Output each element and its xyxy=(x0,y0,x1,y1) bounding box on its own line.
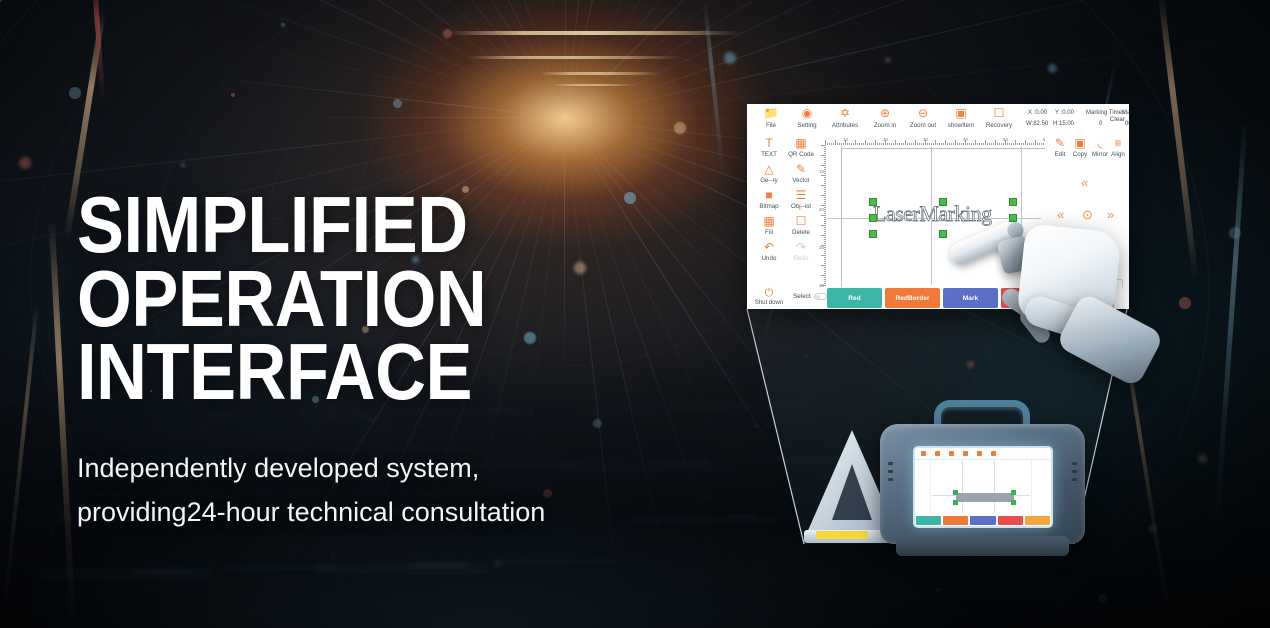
selection-handle[interactable] xyxy=(869,230,877,238)
ruler-tick xyxy=(824,257,827,258)
selection-handle[interactable] xyxy=(869,198,877,206)
shutdown-label: Shut down xyxy=(753,300,785,306)
ruler-tick xyxy=(1023,143,1024,146)
tool-button-copy[interactable]: ▣ Copy xyxy=(1069,137,1091,158)
bokeh-dot xyxy=(724,52,736,64)
machine-screen-ui xyxy=(915,448,1051,526)
ruler-tick xyxy=(927,143,928,146)
ruler-tick xyxy=(824,277,827,278)
ruler-tick xyxy=(959,143,960,146)
mini-handle xyxy=(1011,490,1016,495)
ruler-tick xyxy=(931,143,932,146)
ruler-tick xyxy=(899,143,900,146)
ruler-tick xyxy=(824,149,827,150)
mini-right-panel xyxy=(1031,460,1051,514)
ruler-tick xyxy=(821,145,826,146)
ruler-tick xyxy=(821,205,826,206)
ruler-tick xyxy=(935,140,936,145)
ruler-tick xyxy=(824,263,827,264)
ruler-label: 20 xyxy=(883,137,888,142)
tool-button-delete[interactable]: ☐ Delete xyxy=(783,215,819,236)
bokeh-dot xyxy=(19,157,31,169)
mini-handle xyxy=(953,490,958,495)
ruler-tick xyxy=(1035,140,1036,145)
bokeh-dot xyxy=(0,0,2,2)
mini-btn-continuemark xyxy=(998,516,1023,525)
nav-up-button[interactable]: « xyxy=(1081,175,1088,190)
ruler-tick xyxy=(824,161,827,162)
ruler-tick xyxy=(824,191,827,192)
tool-label: Bitmap xyxy=(751,203,787,210)
mini-handle xyxy=(1011,500,1016,505)
ruler-tick xyxy=(824,279,827,280)
ruler-tick xyxy=(824,219,827,220)
ruler-label: 50 xyxy=(1003,137,1008,142)
ruler-tick xyxy=(1009,143,1010,146)
ruler-tick xyxy=(824,221,827,222)
redo-icon: ↷ xyxy=(783,241,819,254)
ruler-tick xyxy=(821,265,826,266)
status-h: H:15.00 xyxy=(1053,121,1074,127)
mini-toolbar-icon xyxy=(935,451,940,456)
ruler-tick xyxy=(839,143,840,146)
mini-toolbar-icon xyxy=(963,451,968,456)
ruler-tick xyxy=(833,143,834,146)
toggle-switch[interactable] xyxy=(814,293,827,300)
tool-button-align[interactable]: ≡ Align xyxy=(1107,137,1129,158)
mini-guide xyxy=(962,461,963,513)
ruler-tick xyxy=(975,140,976,145)
recovery-icon: ☐ xyxy=(977,107,1021,120)
mini-action-bar xyxy=(915,515,1051,526)
ruler-tick xyxy=(985,140,986,145)
horizontal-ruler: 102030405060 xyxy=(825,137,1045,145)
ruler-tick xyxy=(919,143,920,146)
ruler-tick xyxy=(1025,140,1026,145)
ruler-tick xyxy=(841,143,842,146)
ruler-label: 10 xyxy=(843,137,848,142)
vector-icon: ✎ xyxy=(783,163,819,176)
bokeh-dot xyxy=(1179,297,1191,309)
ruler-tick xyxy=(883,143,884,146)
ruler-tick xyxy=(973,143,974,146)
floor-panel xyxy=(501,559,615,564)
ruler-tick xyxy=(824,233,827,234)
robot-hand xyxy=(938,200,1153,400)
ruler-tick xyxy=(824,163,827,164)
objectlist-icon: ☰ xyxy=(783,189,819,202)
tool-label: Fill xyxy=(751,229,787,236)
machine-vent xyxy=(888,470,893,473)
toolbar: 📁 File ◉ Setting ✡ Attributes ⊕ Zoom in … xyxy=(747,104,1129,137)
ruler-tick xyxy=(824,201,827,202)
ruler-tick xyxy=(821,215,826,216)
ruler-tick xyxy=(824,203,827,204)
ruler-tick xyxy=(861,143,862,146)
tool-button-qrcode[interactable]: ▦ QR Code xyxy=(783,137,819,158)
floor-panel xyxy=(317,563,487,574)
ruler-tick xyxy=(903,143,904,146)
ruler-tick xyxy=(1039,143,1040,146)
ruler-tick xyxy=(971,143,972,146)
subtitle-line-1: Independently developed system, xyxy=(77,447,737,491)
ruler-tick xyxy=(907,143,908,146)
copy-icon: ▣ xyxy=(1069,137,1091,150)
floor-panel xyxy=(41,569,211,580)
ruler-tick xyxy=(824,183,827,184)
ruler-tick xyxy=(824,217,827,218)
ruler-tick xyxy=(824,147,827,148)
ruler-tick xyxy=(1031,143,1032,146)
selection-handle[interactable] xyxy=(869,214,877,222)
bokeh-dot xyxy=(1229,227,1241,239)
floor-panel xyxy=(225,565,339,570)
ruler-tick xyxy=(824,159,827,160)
tool-button-text[interactable]: T TEXT xyxy=(751,137,787,158)
ruler-tick xyxy=(821,255,826,256)
tool-label: Copy xyxy=(1069,151,1091,158)
ruler-tick xyxy=(824,151,827,152)
ruler-tick xyxy=(824,239,827,240)
ruler-tick xyxy=(824,197,827,198)
mini-btn-redborder xyxy=(943,516,968,525)
tool-label: Edit xyxy=(1049,151,1071,158)
ruler-tick xyxy=(824,167,827,168)
ruler-tick xyxy=(1019,143,1020,146)
ruler-tick xyxy=(917,143,918,146)
ruler-tick xyxy=(851,143,852,146)
ruler-tick xyxy=(879,143,880,146)
ruler-tick xyxy=(853,143,854,146)
tool-label: Redo xyxy=(783,255,819,262)
ruler-tick xyxy=(824,179,827,180)
ruler-tick xyxy=(915,140,916,145)
ruler-label: 10 xyxy=(819,169,824,174)
ruler-tick xyxy=(837,143,838,146)
mini-toolbar-icon xyxy=(921,451,926,456)
mini-toolbar xyxy=(915,448,1051,460)
perspective-spoke xyxy=(156,24,566,118)
ruler-tick xyxy=(949,143,950,146)
headline-line-2: INTERFACE xyxy=(77,335,658,409)
marking-time-value: 00:00:00.00 xyxy=(1125,121,1129,127)
mini-btn-red xyxy=(916,516,941,525)
machine-base xyxy=(896,536,1069,556)
tool-button-redo[interactable]: ↷ Redo xyxy=(783,241,819,262)
text-icon: T xyxy=(751,137,787,150)
banner-copy: SIMPLIFIED OPERATION INTERFACE Independe… xyxy=(77,188,737,534)
ruler-tick xyxy=(941,143,942,146)
headline-line-1: SIMPLIFIED OPERATION xyxy=(77,188,658,335)
ruler-tick xyxy=(897,143,898,146)
align-icon: ≡ xyxy=(1107,137,1129,150)
ruler-tick xyxy=(999,143,1000,146)
ruler-tick xyxy=(821,195,826,196)
ruler-tick xyxy=(863,143,864,146)
ruler-tick xyxy=(824,199,827,200)
ruler-tick xyxy=(824,227,827,228)
laser-marking-machine xyxy=(880,400,1085,560)
ruler-tick xyxy=(955,140,956,145)
ruler-tick xyxy=(824,243,827,244)
ruler-tick xyxy=(911,143,912,146)
ruler-tick xyxy=(871,143,872,146)
ruler-tick xyxy=(1011,143,1012,146)
ruler-tick xyxy=(824,229,827,230)
ruler-tick xyxy=(881,143,882,146)
ruler-tick xyxy=(847,143,848,146)
tool-label: TEXT xyxy=(751,151,787,158)
machine-screen xyxy=(913,446,1053,528)
ruler-tick xyxy=(821,225,826,226)
ruler-tick xyxy=(969,143,970,146)
mini-handle xyxy=(953,500,958,505)
shutdown-button[interactable]: ⏻ Shut down xyxy=(753,288,785,306)
status-y: Y :0.00 xyxy=(1055,110,1074,116)
bokeh-dot xyxy=(674,122,686,134)
ruler-tick xyxy=(887,143,888,146)
ruler-tick xyxy=(967,143,968,146)
perspective-spoke xyxy=(325,117,565,118)
ruler-tick xyxy=(957,143,958,146)
ruler-tick xyxy=(945,140,946,145)
floor-panel xyxy=(0,400,30,405)
ruler-tick xyxy=(913,143,914,146)
tool-label: Undo xyxy=(751,255,787,262)
ruler-tick xyxy=(873,143,874,146)
tool-button-edit[interactable]: ✎ Edit xyxy=(1049,137,1071,158)
banner-stage: SIMPLIFIED OPERATION INTERFACE Independe… xyxy=(0,0,1270,628)
power-icon: ⏻ xyxy=(753,288,785,299)
ruler-tick xyxy=(824,271,827,272)
ruler-tick xyxy=(824,157,827,158)
ruler-tick xyxy=(824,231,827,232)
undo-icon: ↶ xyxy=(751,241,787,254)
edit-icon: ✎ xyxy=(1049,137,1071,150)
tool-button-vector[interactable]: ✎ Vector xyxy=(783,163,819,184)
ruler-tick xyxy=(1029,143,1030,146)
ruler-tick xyxy=(849,143,850,146)
ruler-tick xyxy=(989,143,990,146)
ruler-tick xyxy=(891,143,892,146)
ruler-tick xyxy=(821,175,826,176)
toolbar-label: Recovery xyxy=(977,122,1021,129)
perspective-spoke xyxy=(565,0,933,119)
ruler-label: 30 xyxy=(923,137,928,142)
tool-button-objectlist[interactable]: ☰ Obj--ist xyxy=(783,189,819,210)
ruler-tick xyxy=(824,189,827,190)
tool-label: Delete xyxy=(783,229,819,236)
ruler-tick xyxy=(865,140,866,145)
ruler-tick xyxy=(824,259,827,260)
vertical-ruler: 10203040 xyxy=(819,145,826,287)
ruler-tick xyxy=(859,143,860,146)
ruler-tick xyxy=(824,281,827,282)
page-title: SIMPLIFIED OPERATION INTERFACE xyxy=(77,188,658,409)
tool-label: Obj--ist xyxy=(783,203,819,210)
machine-vent xyxy=(1072,462,1077,465)
mini-left-panel xyxy=(915,460,931,514)
ruler-tick xyxy=(1003,143,1004,146)
ruler-tick xyxy=(921,143,922,146)
machine-vent xyxy=(888,462,893,465)
mini-canvas xyxy=(932,461,1030,513)
tool-button-undo[interactable]: ↶ Undo xyxy=(751,241,787,262)
ruler-tick xyxy=(835,140,836,145)
ruler-tick xyxy=(1043,143,1044,146)
ruler-tick xyxy=(1037,143,1038,146)
ruler-tick xyxy=(875,140,876,145)
toolbar-label: Attributes xyxy=(823,122,867,129)
machine-vent xyxy=(1072,470,1077,473)
ruler-tick xyxy=(829,143,830,146)
ruler-tick xyxy=(923,143,924,146)
ruler-tick xyxy=(824,241,827,242)
ruler-tick xyxy=(1021,143,1022,146)
ruler-tick xyxy=(1015,140,1016,145)
mini-object-text xyxy=(956,493,1014,502)
machine-vent xyxy=(1072,478,1077,481)
bokeh-dot xyxy=(69,87,81,99)
ruler-tick xyxy=(963,143,964,146)
ruler-tick xyxy=(827,143,828,146)
machine-vent xyxy=(888,478,893,481)
ruler-tick xyxy=(961,143,962,146)
red-button[interactable]: Red xyxy=(827,288,882,308)
ruler-tick xyxy=(905,140,906,145)
perspective-spoke xyxy=(565,0,1132,119)
ruler-tick xyxy=(869,143,870,146)
ruler-tick xyxy=(821,165,826,166)
ruler-tick xyxy=(824,251,827,252)
ruler-tick xyxy=(929,143,930,146)
ruler-label: 30 xyxy=(819,245,824,250)
tool-label: QR Code xyxy=(783,151,819,158)
toolbar-button-recovery[interactable]: ☐ Recovery xyxy=(977,107,1021,129)
tool-label: Vector xyxy=(783,177,819,184)
select-toggle[interactable]: Select xyxy=(793,293,827,300)
ruler-tick xyxy=(933,143,934,146)
ruler-tick xyxy=(1033,143,1034,146)
ruler-tick xyxy=(867,143,868,146)
status-w: W:82.50 xyxy=(1026,121,1048,127)
ruler-tick xyxy=(831,143,832,146)
toolbar-button-attributes[interactable]: ✡ Attributes xyxy=(823,107,867,129)
stand-warning-label xyxy=(816,531,868,539)
tool-label: Ge--ry xyxy=(751,177,787,184)
clear-button[interactable]: Clear xyxy=(1110,116,1125,123)
attributes-icon: ✡ xyxy=(823,107,867,120)
mini-btn-power xyxy=(1025,516,1050,525)
ruler-tick xyxy=(1001,143,1002,146)
ruler-tick xyxy=(824,153,827,154)
ruler-tick xyxy=(977,143,978,146)
status-x: X :0.00 xyxy=(1028,110,1047,116)
ruler-tick xyxy=(951,143,952,146)
ruler-label: 40 xyxy=(963,137,968,142)
ruler-tick xyxy=(824,193,827,194)
ruler-tick xyxy=(824,261,827,262)
banner-subtitle: Independently developed system, providin… xyxy=(77,447,737,534)
ruler-tick xyxy=(821,185,826,186)
ruler-tick xyxy=(991,143,992,146)
light-bar xyxy=(540,72,660,75)
ruler-tick xyxy=(947,143,948,146)
left-tool-panel: T TEXT ▦ QR Code △ Ge--ry ✎ Vector ■ Bit… xyxy=(747,137,819,287)
ruler-tick xyxy=(824,253,827,254)
mini-btn-mark xyxy=(970,516,995,525)
mini-toolbar-icon xyxy=(991,451,996,456)
ruler-tick xyxy=(824,273,827,274)
ruler-tick xyxy=(909,143,910,146)
ruler-tick xyxy=(877,143,878,146)
geometry-icon: △ xyxy=(751,163,787,176)
ruler-tick xyxy=(843,143,844,146)
ruler-tick xyxy=(821,235,826,236)
ruler-tick xyxy=(857,143,858,146)
ruler-tick xyxy=(824,213,827,214)
tool-label: Align xyxy=(1107,151,1129,158)
ruler-label: 20 xyxy=(819,207,824,212)
ruler-tick xyxy=(824,223,827,224)
ruler-tick xyxy=(824,237,827,238)
mini-toolbar-icon xyxy=(949,451,954,456)
ruler-tick xyxy=(937,143,938,146)
tool-button-bitmap[interactable]: ■ Bitmap xyxy=(751,189,787,210)
ruler-tick xyxy=(1041,143,1042,146)
ruler-tick xyxy=(995,140,996,145)
ruler-tick xyxy=(895,140,896,145)
ruler-tick xyxy=(981,143,982,146)
perspective-spoke xyxy=(565,0,826,118)
ruler-tick xyxy=(821,155,826,156)
ruler-tick xyxy=(824,177,827,178)
delete-icon: ☐ xyxy=(783,215,819,228)
ruler-tick xyxy=(824,181,827,182)
ruler-tick xyxy=(993,143,994,146)
ruler-tick xyxy=(1013,143,1014,146)
ruler-tick xyxy=(824,267,827,268)
qrcode-icon: ▦ xyxy=(783,137,819,150)
ruler-tick xyxy=(824,187,827,188)
ruler-tick xyxy=(953,143,954,146)
ruler-tick xyxy=(893,143,894,146)
ruler-tick xyxy=(855,140,856,145)
ruler-tick xyxy=(1027,143,1028,146)
perspective-spoke xyxy=(565,0,921,119)
ruler-tick xyxy=(824,269,827,270)
light-bar xyxy=(468,56,680,59)
mini-guide xyxy=(994,461,995,513)
ruler-tick xyxy=(821,275,826,276)
perspective-spoke xyxy=(565,0,824,119)
ruler-tick xyxy=(1017,143,1018,146)
fill-icon: ▦ xyxy=(751,215,787,228)
perspective-spoke xyxy=(565,0,566,118)
ruler-tick xyxy=(1007,143,1008,146)
tool-button-geometry[interactable]: △ Ge--ry xyxy=(751,163,787,184)
light-bar xyxy=(552,84,636,86)
ruler-tick xyxy=(987,143,988,146)
redborder-button[interactable]: RedBorder xyxy=(885,288,940,308)
mini-toolbar-icon xyxy=(977,451,982,456)
ruler-tick xyxy=(983,143,984,146)
ruler-tick xyxy=(997,143,998,146)
select-label: Select xyxy=(793,293,811,300)
bitmap-icon: ■ xyxy=(751,189,787,202)
ruler-tick xyxy=(889,143,890,146)
tool-button-fill[interactable]: ▦ Fill xyxy=(751,215,787,236)
